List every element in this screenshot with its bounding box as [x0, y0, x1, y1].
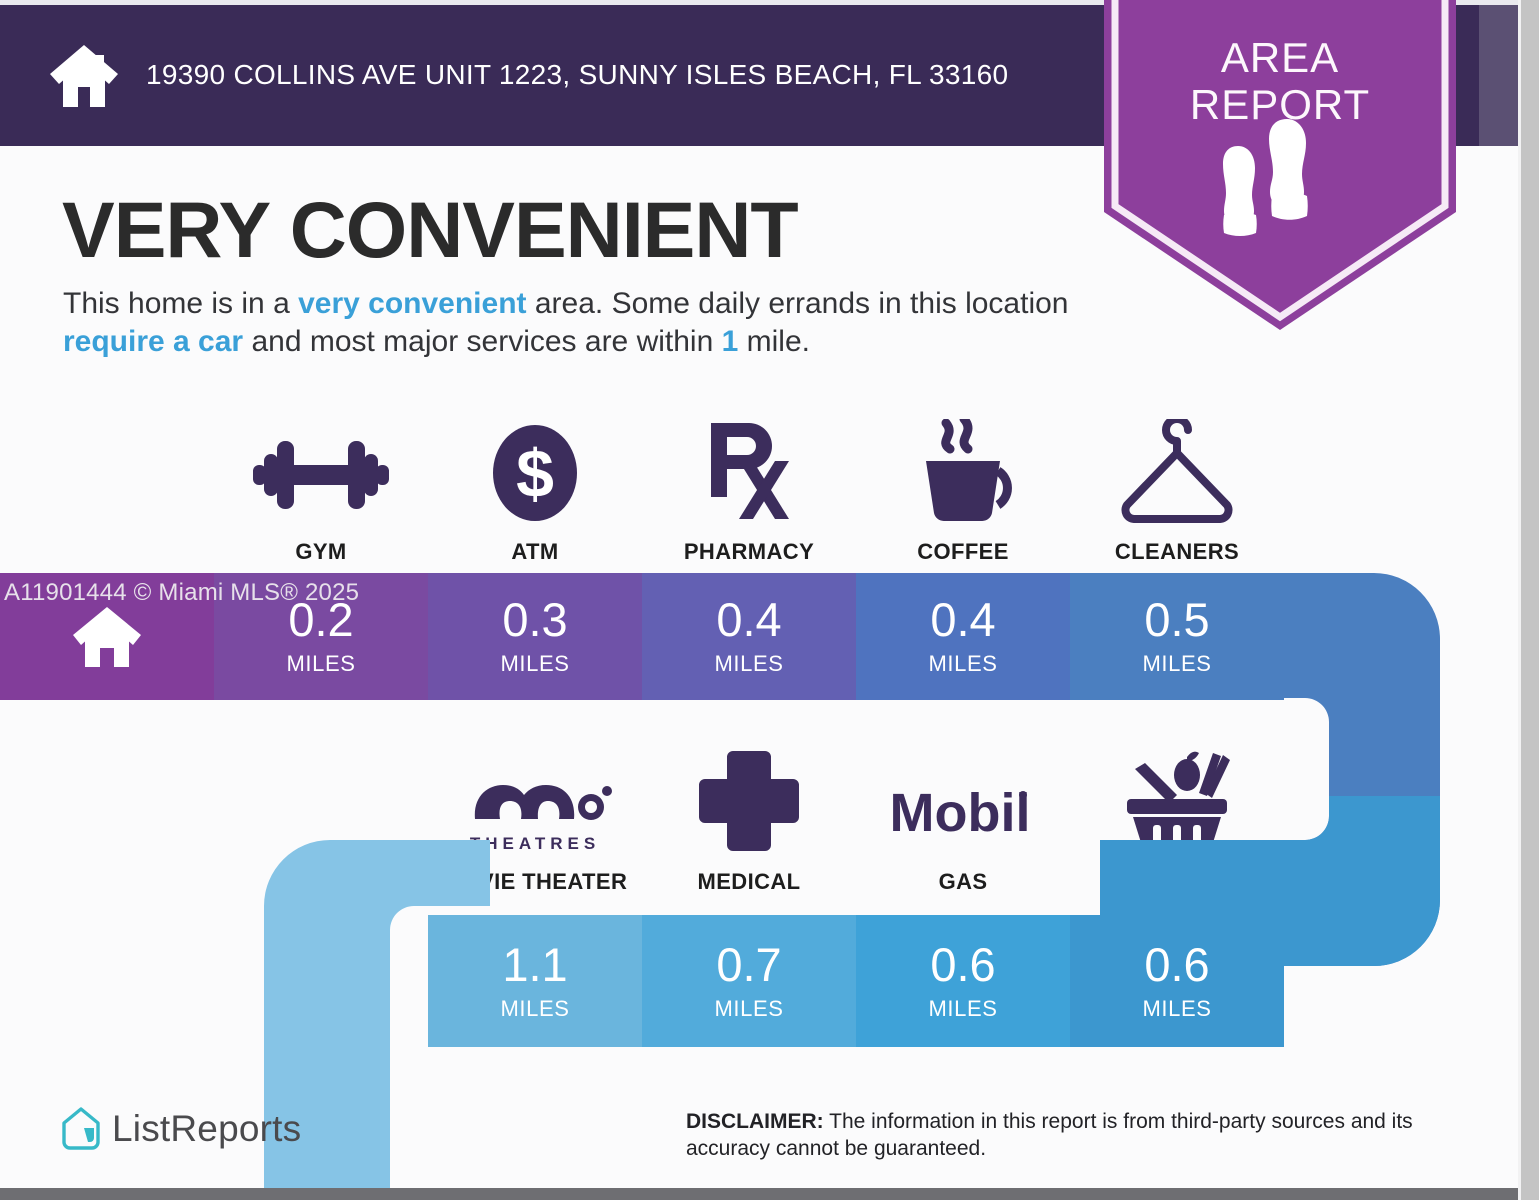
blurb-highlight-2: require a car: [63, 325, 243, 358]
distance-unit: MILES: [928, 651, 997, 677]
listreports-house-tag-icon: [60, 1106, 102, 1152]
house-icon: [71, 605, 143, 669]
badge-label: AREA REPORT: [1104, 34, 1456, 128]
distance-segment-medical: 0.7 MILES: [642, 915, 856, 1047]
distance-value: 0.6: [930, 941, 995, 988]
distance-segment-cleaners: 0.5 MILES: [1070, 573, 1284, 700]
blurb-text-1: This home is in a: [63, 287, 298, 320]
area-report-page: 19390 COLLINS AVE UNIT 1223, SUNNY ISLES…: [0, 0, 1539, 1200]
svg-text:$: $: [516, 436, 554, 512]
distance-value: 0.4: [716, 596, 781, 643]
amenity-cleaners[interactable]: CLEANERS: [1070, 418, 1284, 565]
blurb-text-3: and most major services are within: [243, 325, 722, 358]
page-scroll-gutter[interactable]: [1521, 0, 1539, 1200]
distance-unit: MILES: [928, 996, 997, 1022]
area-report-badge: AREA REPORT: [1104, 0, 1456, 330]
property-address: 19390 COLLINS AVE UNIT 1223, SUNNY ISLES…: [146, 56, 1008, 94]
amenity-gym[interactable]: GYM: [214, 418, 428, 565]
distance-unit: MILES: [500, 651, 569, 677]
blurb-text-2: area. Some daily errands in this locatio…: [527, 287, 1069, 320]
distance-unit: MILES: [286, 651, 355, 677]
header-address-bar: 19390 COLLINS AVE UNIT 1223, SUNNY ISLES…: [0, 5, 1085, 146]
logo-text: ListReports: [112, 1108, 301, 1150]
amenity-coffee[interactable]: COFFEE: [856, 418, 1070, 565]
distance-segment-groceries: 0.6 MILES: [1070, 915, 1284, 1047]
distance-segment-gas: 0.6 MILES: [856, 915, 1070, 1047]
distance-segment-coffee: 0.4 MILES: [856, 573, 1070, 700]
coffee-cup-icon: [908, 418, 1018, 523]
blurb-highlight-3: 1: [722, 325, 739, 358]
row-spacer: [0, 418, 214, 565]
distance-unit: MILES: [714, 996, 783, 1022]
badge-line-2: REPORT: [1104, 81, 1456, 128]
distance-value: 1.1: [502, 941, 567, 988]
distance-segment-pharmacy: 0.4 MILES: [642, 573, 856, 700]
house-icon: [48, 43, 120, 109]
distance-unit: MILES: [714, 651, 783, 677]
mls-watermark: A11901444 © Miami MLS® 2025: [4, 579, 359, 607]
distance-ribbon: A11901444 © Miami MLS® 2025 0.2 MILES 0.…: [0, 560, 1539, 1200]
distance-segment-atm: 0.3 MILES: [428, 573, 642, 700]
badge-line-1: AREA: [1104, 34, 1456, 81]
amenity-atm[interactable]: $ ATM: [428, 418, 642, 565]
distance-value: 0.7: [716, 941, 781, 988]
distance-unit: MILES: [500, 996, 569, 1022]
blurb-highlight-1: very convenient: [298, 287, 526, 320]
disclaimer-label: DISCLAIMER:: [686, 1110, 824, 1133]
distance-unit: MILES: [1142, 996, 1211, 1022]
amenity-icon-row-top: GYM $ ATM: [0, 418, 1539, 565]
dollar-coin-icon: $: [485, 418, 585, 523]
distance-value: 0.4: [930, 596, 995, 643]
page-title: VERY CONVENIENT: [62, 190, 798, 269]
distance-segment-movie-theater: 1.1 MILES: [428, 915, 642, 1047]
page-bottom-edge: [0, 1188, 1521, 1200]
distance-value: 0.3: [502, 596, 567, 643]
hanger-icon: [1115, 418, 1239, 523]
distance-value: 0.5: [1144, 596, 1209, 643]
distance-unit: MILES: [1142, 651, 1211, 677]
blurb-text-4: mile.: [738, 325, 810, 358]
page-description: This home is in a very convenient area. …: [63, 285, 1093, 362]
amenity-pharmacy[interactable]: PHARMACY: [642, 418, 856, 565]
dumbbell-icon: [251, 418, 391, 523]
rx-icon: [697, 418, 801, 523]
distance-value: 0.6: [1144, 941, 1209, 988]
listreports-logo[interactable]: ListReports: [60, 1106, 301, 1152]
disclaimer: DISCLAIMER: The information in this repo…: [686, 1108, 1476, 1163]
